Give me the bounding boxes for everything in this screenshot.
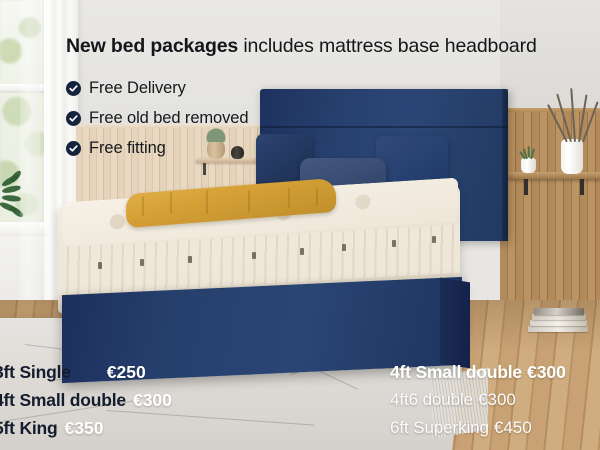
page-title: New bed packages includes mattress base … (66, 35, 537, 58)
stacked-books (528, 308, 590, 336)
price-list-left: 3ft Single €250 4ft Small double €300 5f… (0, 362, 172, 446)
price-row: 4ft Small double €300 (0, 390, 172, 418)
bed-price: €300 (478, 390, 516, 410)
small-plant (522, 146, 535, 160)
bed-size-label: 4ft Small double (390, 362, 522, 383)
headboard-seam (260, 126, 508, 128)
bed-size-label: 5ft King (0, 418, 58, 439)
price-row: 4ft Small double €300 (390, 362, 566, 390)
white-vase (561, 139, 583, 174)
bed-price: €300 (527, 362, 566, 383)
benefits-list: Free Delivery Free old bed removed Free … (66, 73, 248, 163)
price-list-right: 4ft Small double €300 4ft6 double €300 6… (390, 362, 566, 446)
shelf-bracket (524, 179, 528, 195)
shelf-bracket (580, 179, 584, 195)
bed-price: €250 (107, 362, 146, 383)
check-circle-icon (66, 141, 81, 156)
shelf-bracket (203, 163, 206, 175)
bed-size-label: 4ft6 double (390, 390, 473, 410)
benefit-label: Free fitting (89, 139, 166, 158)
wall-shelf-right (508, 172, 600, 179)
check-circle-icon (66, 111, 81, 126)
headline-regular: includes mattress base headboard (238, 35, 537, 57)
bed-size-label: 4ft Small double (0, 390, 126, 411)
bed-size-label: 6ft Superking (390, 418, 489, 438)
price-row: 5ft King €350 (0, 418, 172, 446)
headboard-edge (502, 89, 508, 241)
divan-base-end (440, 278, 470, 369)
check-circle-icon (66, 81, 81, 96)
price-row: 6ft Superking €450 (390, 418, 566, 446)
list-item: Free old bed removed (66, 103, 248, 133)
bed-size-label: 3ft Single (0, 362, 71, 383)
bed-price: €450 (494, 418, 532, 438)
bed-price: €350 (65, 418, 104, 439)
price-row: 4ft6 double €300 (390, 390, 566, 418)
headline-bold: New bed packages (66, 35, 238, 57)
bed-package-advert: New bed packages includes mattress base … (0, 0, 600, 450)
bed-price: €300 (133, 390, 172, 411)
benefit-label: Free old bed removed (89, 109, 248, 128)
small-pot (521, 158, 536, 173)
list-item: Free Delivery (66, 73, 248, 103)
benefit-label: Free Delivery (89, 79, 186, 98)
price-row: 3ft Single €250 (0, 362, 172, 390)
list-item: Free fitting (66, 133, 248, 163)
